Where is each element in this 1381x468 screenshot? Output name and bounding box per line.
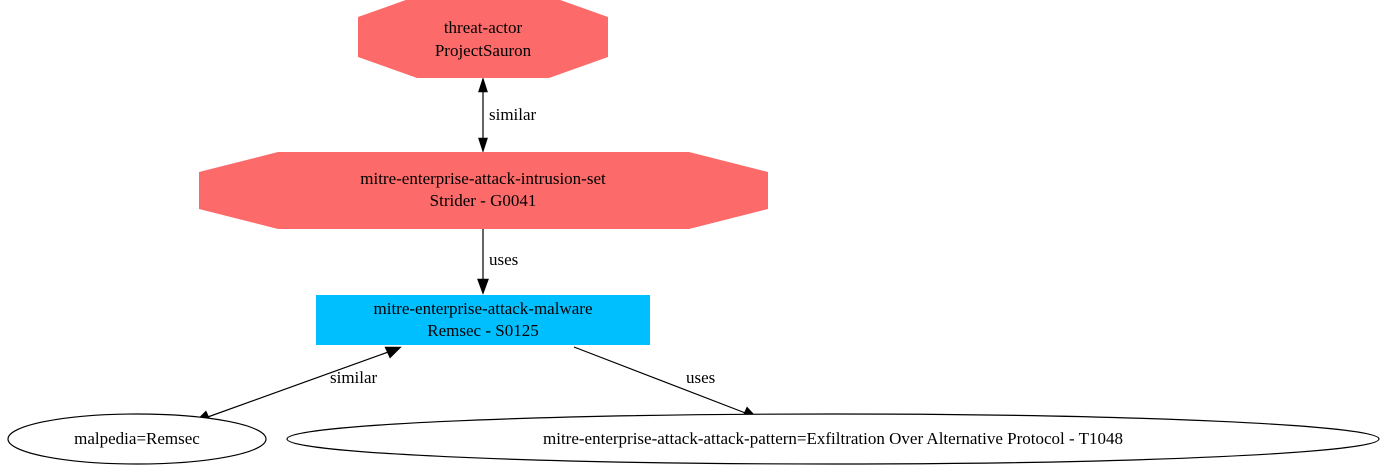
edge-label-uses-bottom: uses [686,368,715,387]
arrow-head-down [479,138,488,152]
node-label-line1: mitre-enterprise-attack-malware [374,299,593,318]
edge-similar-malware-malpedia: similar [195,347,401,422]
node-threat-actor[interactable]: threat-actor ProjectSauron [358,0,608,78]
node-label-line1: threat-actor [444,18,523,37]
node-label-line1: mitre-enterprise-attack-attack-pattern=E… [543,429,1123,448]
arrow-head-to-malware [385,347,401,358]
node-label-line1: malpedia=Remsec [74,429,200,448]
node-label-line2: ProjectSauron [435,41,532,60]
node-attack-pattern[interactable]: mitre-enterprise-attack-attack-pattern=E… [287,414,1379,464]
edge-uses-malware-attack-pattern: uses [574,347,758,419]
node-label-line1: mitre-enterprise-attack-intrusion-set [360,169,606,188]
edge-line [574,347,748,414]
graph-canvas: similar uses similar uses threat-actor P… [0,0,1381,468]
edge-label-uses-mid: uses [489,250,518,269]
edge-label-similar-top: similar [489,105,537,124]
node-shape-octagon [358,0,608,78]
edge-similar-threat-actor-intrusion-set: similar [479,78,537,152]
edge-uses-intrusion-set-malware: uses [478,229,519,294]
edge-label-similar-bottom: similar [330,368,378,387]
node-label-line2: Strider - G0041 [430,191,537,210]
graph-diagram: similar uses similar uses threat-actor P… [0,0,1381,468]
arrow-head-up [479,78,488,92]
node-label-line2: Remsec - S0125 [427,321,538,340]
node-malpedia[interactable]: malpedia=Remsec [8,414,266,464]
node-malware[interactable]: mitre-enterprise-attack-malware Remsec -… [316,295,650,345]
arrow-head-down [478,279,489,294]
node-intrusion-set[interactable]: mitre-enterprise-attack-intrusion-set St… [199,152,768,229]
